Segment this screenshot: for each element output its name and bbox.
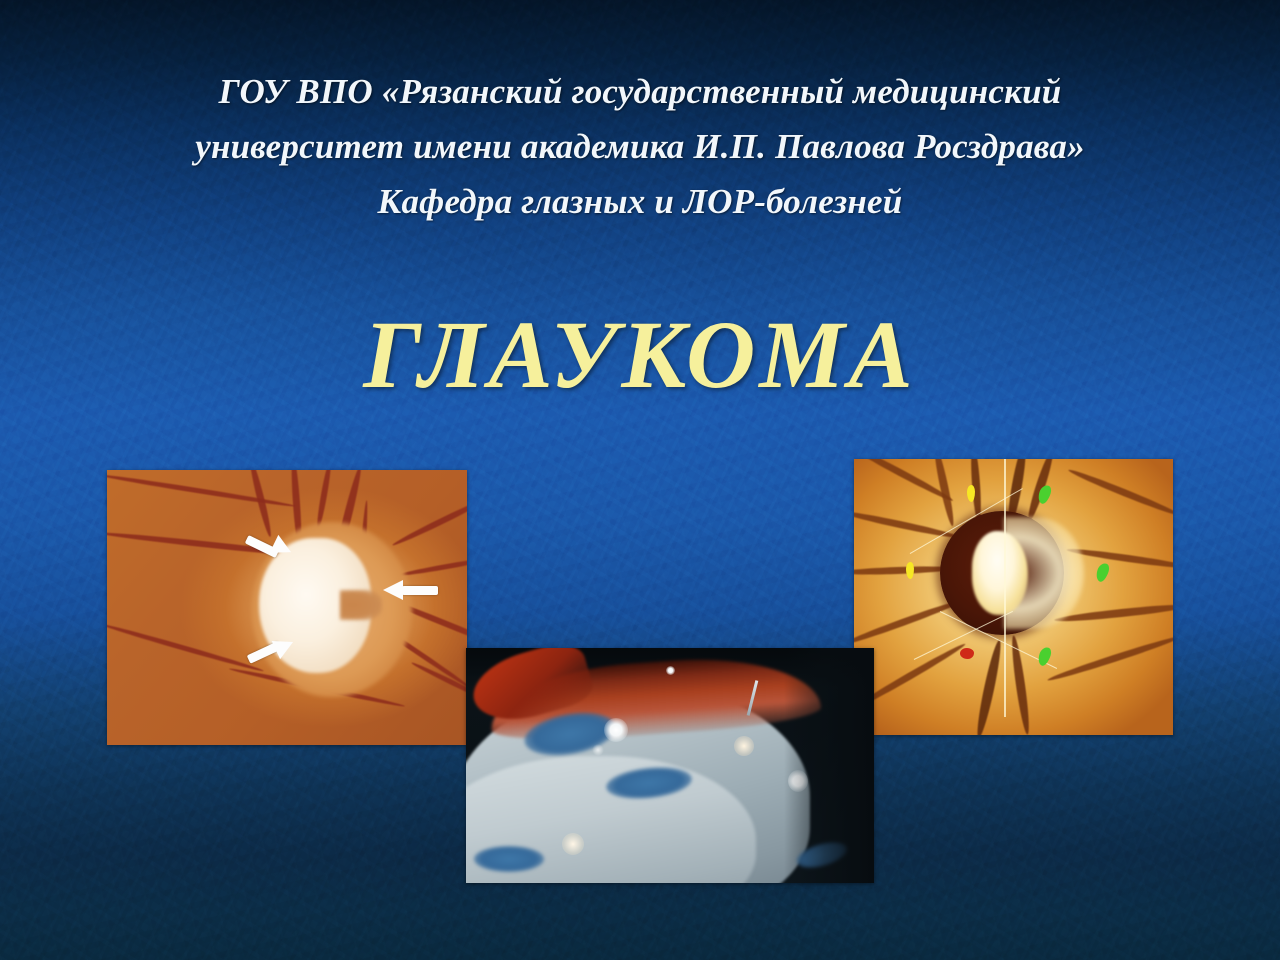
specular-glint-1 bbox=[604, 718, 628, 742]
yellow-dot-marker-2 bbox=[906, 562, 914, 579]
blue-reflection-patch-3 bbox=[474, 846, 544, 872]
slide-header: ГОУ ВПО «Рязанский государственный медиц… bbox=[0, 64, 1280, 229]
cup-notch bbox=[340, 590, 382, 620]
optic-cup bbox=[972, 531, 1028, 615]
specular-glint-4 bbox=[562, 833, 584, 855]
page-title: ГЛАУКОМА bbox=[0, 300, 1280, 410]
red-dot-marker bbox=[960, 648, 974, 659]
specular-glint-5 bbox=[666, 666, 675, 675]
presentation-slide: ГОУ ВПО «Рязанский государственный медиц… bbox=[0, 0, 1280, 960]
dark-background-right bbox=[784, 648, 874, 883]
green-arrow-marker-2 bbox=[1094, 562, 1110, 583]
header-line-3: Кафедра глазных и ЛОР-болезней bbox=[52, 174, 1228, 229]
specular-glint-6 bbox=[592, 744, 604, 756]
header-line-2: университет имени академика И.П. Павлова… bbox=[52, 119, 1228, 174]
header-line-1: ГОУ ВПО «Рязанский государственный медиц… bbox=[52, 64, 1228, 119]
gonioscopy-slit-lamp-photo bbox=[466, 648, 874, 883]
fundus-photo-glaucomatous-cupping bbox=[107, 470, 467, 745]
specular-glint-2 bbox=[734, 736, 754, 756]
fundus-photo-disc-analysis bbox=[854, 459, 1173, 735]
